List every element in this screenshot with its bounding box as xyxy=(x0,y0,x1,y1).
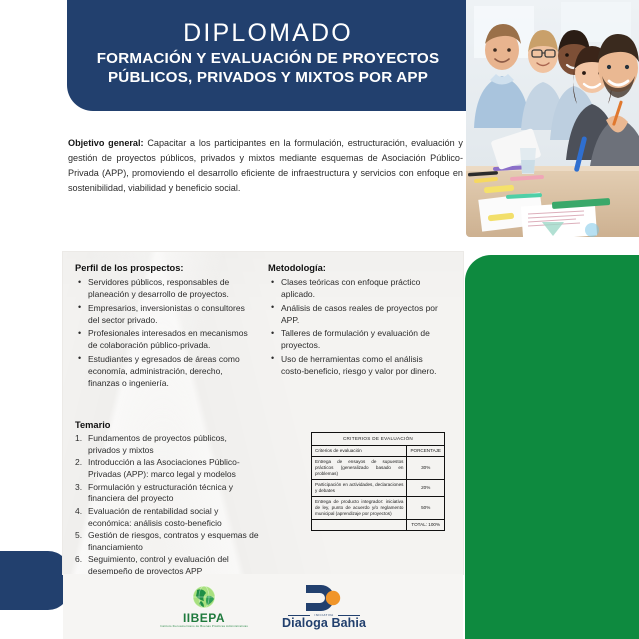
profile-list: Servidores públicos, responsables de pla… xyxy=(77,276,255,389)
total-spacer xyxy=(312,519,407,530)
list-item: Análisis de casos reales de proyectos po… xyxy=(270,302,448,326)
evaluation-criteria-table: CRITERIOS DE EVALUACIÓN Criterios de eva… xyxy=(311,432,445,531)
content-paper-card: Perfil de los prospectos: Servidores púb… xyxy=(63,252,463,574)
logo-iibepa-tagline: Instituto Iberoamericano de Buenas Práct… xyxy=(160,625,248,628)
criterion-text: Entrega de producto integrador: iniciati… xyxy=(312,496,407,519)
column-header-percentage: PORCENTAJE xyxy=(407,445,445,456)
column-header-criteria: Criterios de evaluación xyxy=(312,445,407,456)
logo-dialoga-wordmark: Dialoga Bahia xyxy=(282,617,366,630)
total-value: TOTAL: 100% xyxy=(407,519,445,530)
list-item: Introducción a las Asociaciones Público-… xyxy=(75,457,261,481)
list-item: Clases teóricas con enfoque práctico apl… xyxy=(270,276,448,300)
objective-paragraph: Objetivo general: Capacitar a los partic… xyxy=(68,136,463,196)
criterion-text: Participación en actividades, declaracio… xyxy=(312,479,407,496)
list-item: Uso de herramientas como el análisis cos… xyxy=(270,353,448,377)
list-item: Profesionales interesados en mecanismos … xyxy=(77,327,255,351)
criterion-percent: 30% xyxy=(407,456,445,479)
criterion-percent: 50% xyxy=(407,496,445,519)
header-banner: DIPLOMADO FORMACIÓN Y EVALUACIÓN DE PROY… xyxy=(67,0,469,111)
table-title: CRITERIOS DE EVALUACIÓN xyxy=(312,433,445,446)
logo-iibepa-wordmark: IIBEPA xyxy=(183,612,225,624)
dialoga-d-icon xyxy=(302,583,346,613)
footer-logos: IIBEPA Instituto Iberoamericano de Buena… xyxy=(63,574,463,639)
logo-iibepa: IIBEPA Instituto Iberoamericano de Buena… xyxy=(160,585,248,628)
list-item: Evaluación de rentabilidad social y econ… xyxy=(75,506,261,530)
table-title-row: CRITERIOS DE EVALUACIÓN xyxy=(312,433,445,446)
list-item: Fundamentos de proyectos públicos, priva… xyxy=(75,433,261,457)
table-row: Participación en actividades, declaracio… xyxy=(312,479,445,496)
objective-label: Objetivo general xyxy=(68,138,141,148)
criterion-percent: 20% xyxy=(407,479,445,496)
methodology-list: Clases teóricas con enfoque práctico apl… xyxy=(270,276,448,377)
header-kicker: DIPLOMADO xyxy=(183,20,353,46)
logo-dialoga-bahia: INICIATIVA Dialoga Bahia xyxy=(282,583,366,630)
table-header-row: Criterios de evaluación PORCENTAJE xyxy=(312,445,445,456)
syllabus-list: Fundamentos de proyectos públicos, priva… xyxy=(75,433,261,578)
hero-photo-illustration xyxy=(466,0,639,237)
syllabus-heading: Temario xyxy=(75,420,261,430)
list-item: Formulación y estructuración técnica y f… xyxy=(75,482,261,506)
globe-icon xyxy=(189,585,219,611)
list-item: Empresarios, inversionistas o consultore… xyxy=(77,302,255,326)
profile-column: Perfil de los prospectos: Servidores púb… xyxy=(75,263,255,391)
list-item: Gestión de riesgos, contratos y esquemas… xyxy=(75,530,261,554)
green-accent-block xyxy=(465,255,639,639)
list-item: Servidores públicos, responsables de pla… xyxy=(77,276,255,300)
list-item: Estudiantes y egresados de áreas como ec… xyxy=(77,353,255,389)
methodology-heading: Metodología: xyxy=(268,263,448,273)
syllabus-section: Temario Fundamentos de proyectos público… xyxy=(75,420,261,579)
criterion-text: Entrega de ensayos de supuestos práctico… xyxy=(312,456,407,479)
list-item: Talleres de formulación y evaluación de … xyxy=(270,327,448,351)
hero-photo xyxy=(466,0,639,237)
table-total-row: TOTAL: 100% xyxy=(312,519,445,530)
profile-heading: Perfil de los prospectos: xyxy=(75,263,255,273)
blue-accent-block-bottom-left xyxy=(0,551,70,610)
page-title: FORMACIÓN Y EVALUACIÓN DE PROYECTOS PÚBL… xyxy=(81,49,455,87)
table-row: Entrega de ensayos de supuestos práctico… xyxy=(312,456,445,479)
content-columns: Perfil de los prospectos: Servidores púb… xyxy=(63,252,463,263)
methodology-column: Metodología: Clases teóricas con enfoque… xyxy=(268,263,448,379)
table-row: Entrega de producto integrador: iniciati… xyxy=(312,496,445,519)
